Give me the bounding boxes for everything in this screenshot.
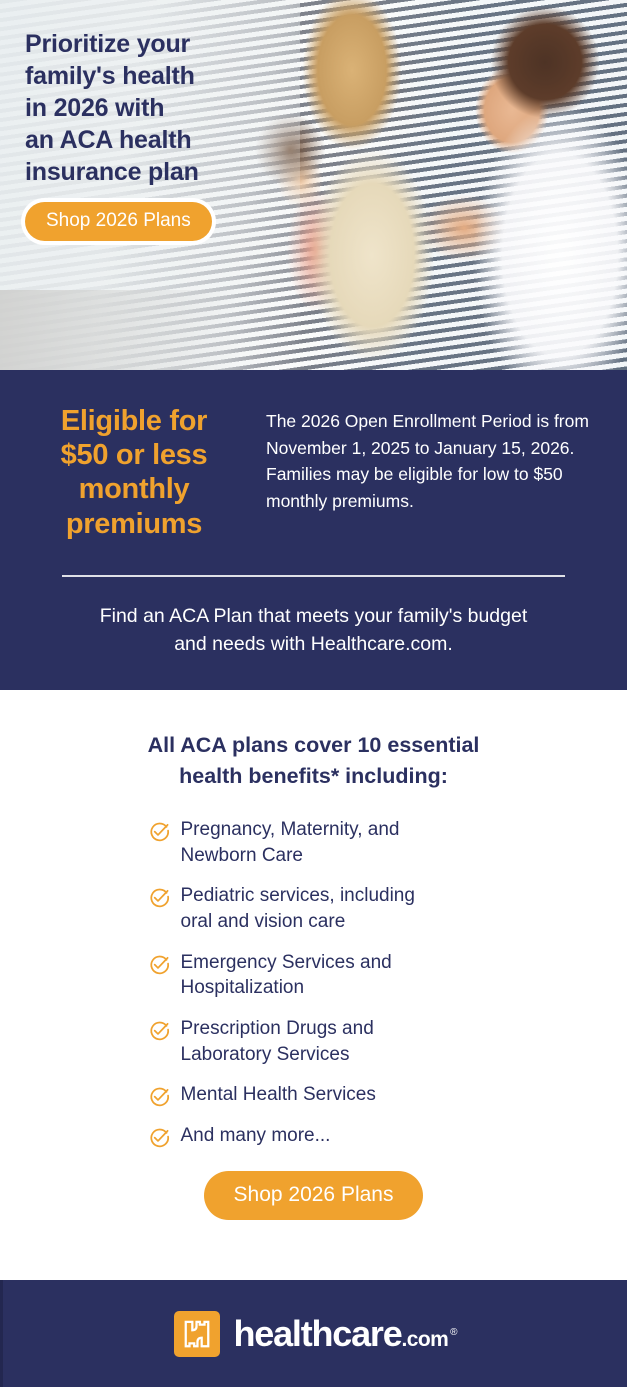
benefit-label: And many more...: [181, 1123, 331, 1149]
benefits-heading: All ACA plans cover 10 essential health …: [104, 730, 524, 791]
eligibility-body-column: The 2026 Open Enrollment Period is from …: [266, 402, 603, 514]
list-item: Pregnancy, Maternity, and Newborn Care: [148, 817, 494, 868]
healthcare-logo-wordmark: healthcare .com ®: [233, 1316, 455, 1352]
eligibility-heading: Eligible for $50 or less monthly premium…: [24, 404, 244, 541]
check-circle-icon: [148, 1020, 170, 1042]
eligibility-heading-column: Eligible for $50 or less monthly premium…: [24, 402, 244, 541]
hero-shop-plans-button[interactable]: Shop 2026 Plans: [25, 202, 212, 241]
benefit-label: Emergency Services and Hospitalization: [181, 950, 392, 1001]
benefits-list: Pregnancy, Maternity, and Newborn Care P…: [134, 817, 494, 1149]
list-item: Mental Health Services: [148, 1082, 494, 1108]
hero-section: Prioritize your family's health in 2026 …: [0, 0, 627, 370]
benefit-label: Prescription Drugs and Laboratory Servic…: [181, 1016, 374, 1067]
list-item: Pediatric services, including oral and v…: [148, 883, 494, 934]
list-item: And many more...: [148, 1123, 494, 1149]
benefit-label: Mental Health Services: [181, 1082, 376, 1108]
healthcare-logo-mark-icon: [174, 1311, 220, 1357]
eligibility-grid: Eligible for $50 or less monthly premium…: [24, 402, 603, 541]
healthcare-logo[interactable]: healthcare .com ®: [174, 1311, 455, 1357]
hero-headline: Prioritize your family's health in 2026 …: [25, 28, 265, 188]
benefit-label: Pediatric services, including oral and v…: [181, 883, 415, 934]
list-item: Emergency Services and Hospitalization: [148, 950, 494, 1001]
check-circle-icon: [148, 1127, 170, 1149]
logo-tld: .com: [402, 1329, 449, 1350]
benefits-shop-plans-button[interactable]: Shop 2026 Plans: [204, 1171, 424, 1220]
registered-trademark-icon: ®: [450, 1328, 457, 1338]
check-circle-icon: [148, 1086, 170, 1108]
open-enrollment-text: The 2026 Open Enrollment Period is from …: [266, 408, 603, 514]
benefits-section: All ACA plans cover 10 essential health …: [0, 690, 627, 1220]
list-item: Prescription Drugs and Laboratory Servic…: [148, 1016, 494, 1067]
section-divider: [62, 575, 565, 577]
eligibility-tagline: Find an ACA Plan that meets your family'…: [44, 602, 583, 659]
ad-banner: Prioritize your family's health in 2026 …: [0, 0, 627, 1387]
hero-copy: Prioritize your family's health in 2026 …: [25, 28, 265, 241]
check-circle-icon: [148, 821, 170, 843]
eligibility-section: Eligible for $50 or less monthly premium…: [0, 370, 627, 690]
check-circle-icon: [148, 954, 170, 976]
footer: healthcare .com ®: [0, 1280, 627, 1387]
logo-brand-name: healthcare: [233, 1316, 401, 1352]
benefit-label: Pregnancy, Maternity, and Newborn Care: [181, 817, 400, 868]
check-circle-icon: [148, 887, 170, 909]
benefits-cta-wrap: Shop 2026 Plans: [0, 1171, 627, 1220]
